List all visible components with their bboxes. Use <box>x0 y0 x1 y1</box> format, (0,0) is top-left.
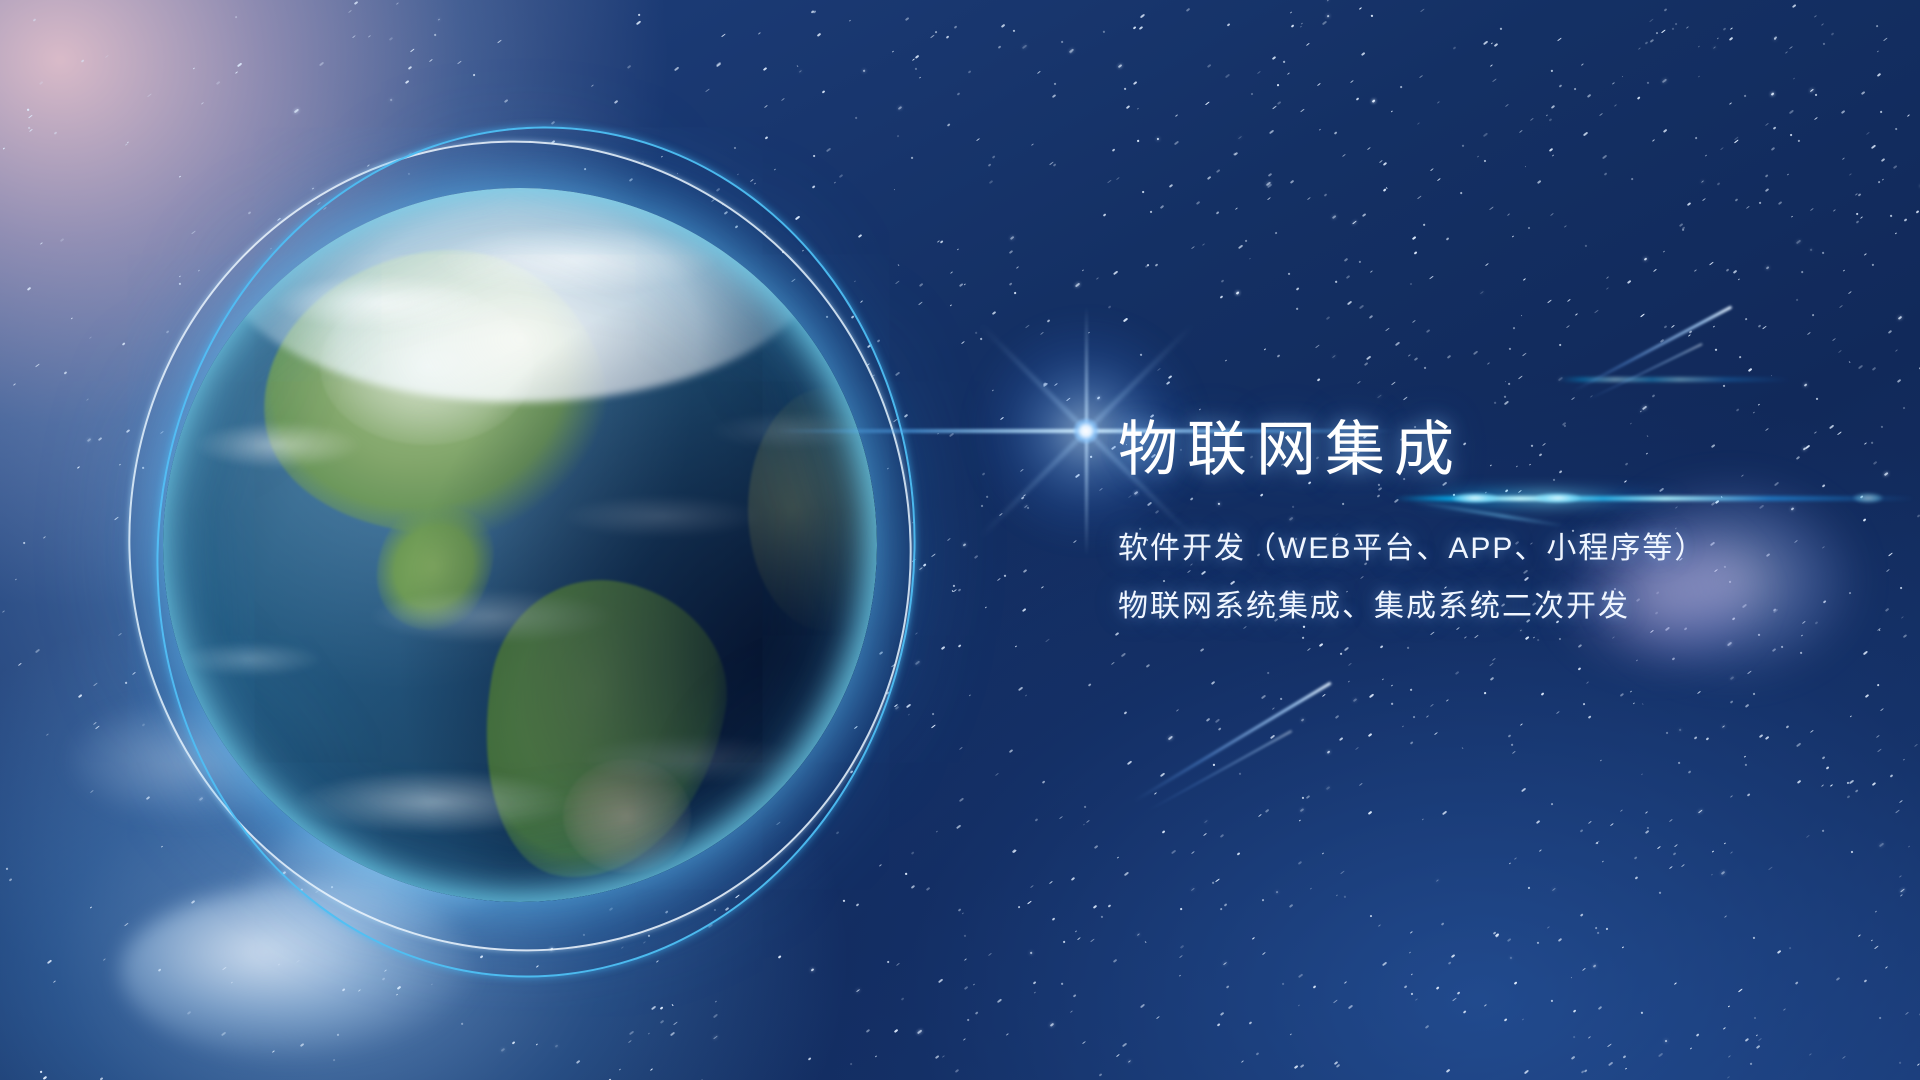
light-streak-cyan-icon <box>1560 375 1790 383</box>
streak-core <box>1560 377 1790 382</box>
earth-globe <box>163 188 877 902</box>
atmosphere-glow <box>163 188 877 902</box>
meteor-trail-icon <box>1585 343 1702 400</box>
meteor-trail-line <box>1585 343 1703 402</box>
meteor-trail-icon <box>1572 305 1731 390</box>
flare-vertical-ray <box>1085 306 1088 556</box>
meteor-trail-line <box>1572 305 1732 392</box>
meteor-trail-line <box>1147 730 1292 812</box>
meteor-trail-line <box>1133 682 1332 803</box>
lens-flare-starburst-icon <box>1085 430 1087 432</box>
flare-core <box>1073 418 1099 444</box>
page-title: 物联网集成 <box>1118 418 1878 483</box>
subtitle-line-2: 物联网系统集成、集成系统二次开发 <box>1118 592 1878 622</box>
meteor-trail-icon <box>1147 730 1291 810</box>
subtitle-line-1: 软件开发（WEB平台、APP、小程序等） <box>1118 534 1878 564</box>
hero-banner: 物联网集成 软件开发（WEB平台、APP、小程序等） 物联网系统集成、集成系统二… <box>0 0 1920 1080</box>
hero-text-block: 物联网集成 软件开发（WEB平台、APP、小程序等） 物联网系统集成、集成系统二… <box>1118 418 1878 622</box>
globe-sphere <box>163 188 877 902</box>
meteor-trail-icon <box>1133 682 1330 800</box>
